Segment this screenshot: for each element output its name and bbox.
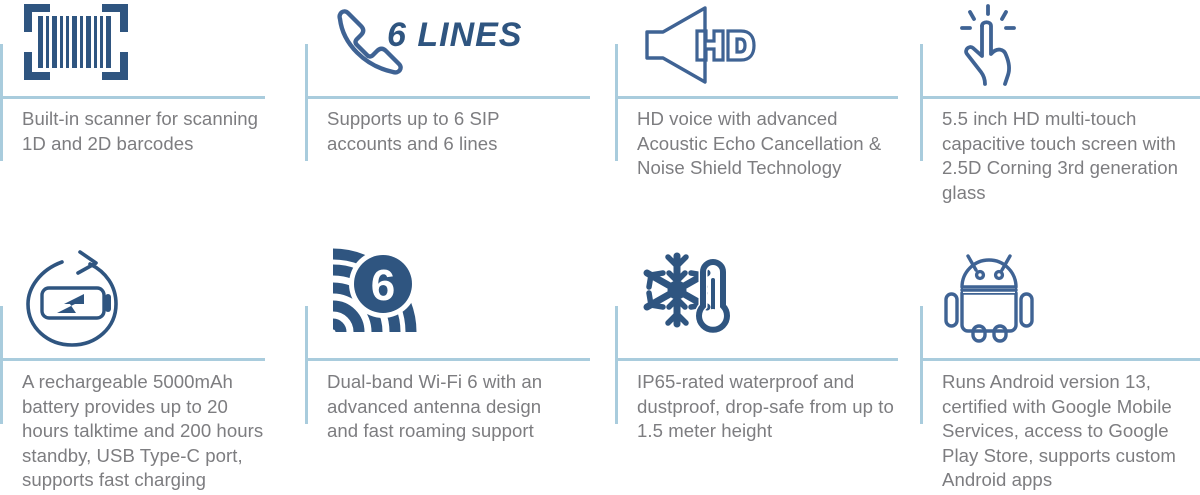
wifi-icon-label: 6 [371,261,395,310]
accent-horizontal-rule [615,358,898,361]
accent-horizontal-rule [920,358,1200,361]
rechargeable-battery-icon [22,250,134,350]
feature-description: IP65-rated waterproof and dustproof, dro… [637,370,899,444]
icon-area [920,248,1200,356]
accent-horizontal-rule [0,358,265,361]
wifi-six-icon: 6 [327,250,431,342]
feature-description: HD voice with advanced Acoustic Echo Can… [637,107,899,181]
android-robot-icon [942,250,1042,342]
hd-speaker-icon [637,2,767,88]
accent-horizontal-rule [305,358,590,361]
feature-cell-hd-voice: HD voice with advanced Acoustic Echo Can… [615,0,920,248]
feature-cell-touch-screen: 5.5 inch HD multi-touch capacitive touch… [920,0,1200,248]
feature-description: Dual-band Wi-Fi 6 with an advanced anten… [327,370,575,444]
feature-description: Built-in scanner for scanning 1D and 2D … [22,107,274,156]
feature-grid: Built-in scanner for scanning 1D and 2D … [0,0,1200,495]
feature-description: Supports up to 6 SIP accounts and 6 line… [327,107,575,156]
phone-six-lines-icon: 6 LINES [327,2,497,80]
feature-description: Runs Android version 13, certified with … [942,370,1184,493]
feature-description: A rechargeable 5000mAh battery provides … [22,370,274,493]
icon-area: 6 LINES [305,0,615,98]
barcode-scanner-icon [22,2,130,82]
feature-description: 5.5 inch HD multi-touch capacitive touch… [942,107,1184,205]
icon-area [0,0,305,98]
feature-cell-android: Runs Android version 13, certified with … [920,248,1200,495]
icon-area: 6 [305,248,615,356]
feature-cell-battery: A rechargeable 5000mAh battery provides … [0,248,305,495]
phone-icon-label: 6 LINES [387,16,522,54]
touch-gesture-icon [942,2,1052,86]
feature-cell-six-lines: 6 LINES Supports up to 6 SIP accounts an… [305,0,615,248]
icon-area [615,0,920,98]
icon-area [615,248,920,356]
feature-cell-ip65: IP65-rated waterproof and dustproof, dro… [615,248,920,495]
feature-cell-barcode-scanner: Built-in scanner for scanning 1D and 2D … [0,0,305,248]
snowflake-thermometer-icon [637,250,741,344]
icon-area [920,0,1200,98]
icon-area [0,248,305,356]
feature-cell-wifi-six: 6 Dual-band Wi-Fi 6 with an advanced ant… [305,248,615,495]
